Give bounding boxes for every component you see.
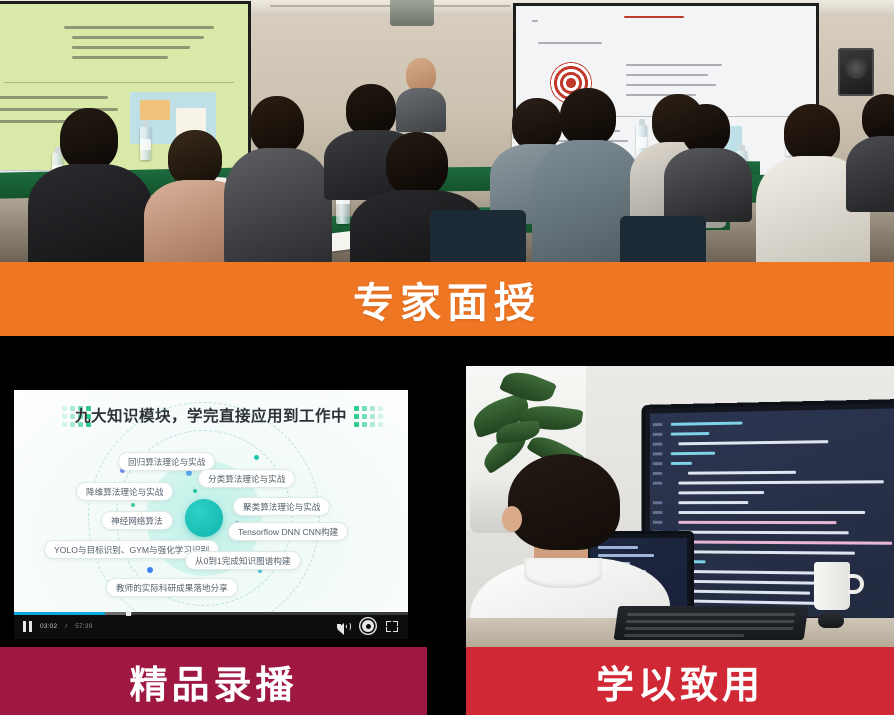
knowledge-node[interactable]: 教师的实际科研成果落地分享 — [106, 578, 238, 597]
banner-recorded-courses-text: 精品录播 — [129, 654, 297, 709]
promo-page: 专家面授 九大知识模块，学完直接应用到工作中 回归算法理论与实战 分类算法理论与… — [0, 0, 894, 715]
volume-icon[interactable] — [337, 620, 350, 632]
progress-played — [14, 612, 105, 615]
keyboard — [614, 606, 809, 640]
knowledge-node[interactable]: Tensorflow DNN CNN构建 — [228, 522, 348, 541]
student — [668, 104, 746, 214]
pause-icon[interactable] — [23, 621, 32, 632]
student — [852, 94, 894, 206]
banner-apply-knowledge-text: 学以致用 — [596, 654, 764, 709]
video-control-bar[interactable]: 03:02 / 57:39 — [14, 612, 408, 639]
accent-dot — [254, 455, 259, 460]
knowledge-node[interactable]: 神经网络算法 — [101, 511, 173, 530]
knowledge-node[interactable]: 降维算法理论与实战 — [76, 482, 173, 501]
banner-apply-knowledge: 学以致用 — [466, 647, 894, 715]
student — [34, 108, 144, 262]
banner-expert-teaching-text: 专家面授 — [353, 269, 541, 329]
coffee-cup — [814, 562, 850, 610]
chair — [430, 210, 526, 262]
banner-expert-teaching: 专家面授 — [0, 262, 894, 336]
accent-dot — [147, 567, 153, 573]
accent-dot — [131, 503, 135, 507]
accent-dot — [193, 489, 197, 493]
chair — [620, 216, 706, 262]
ear — [502, 506, 522, 532]
knowledge-node[interactable]: 从0到1完成知识图谱构建 — [185, 551, 301, 570]
hair — [508, 454, 620, 550]
banner-recorded-courses: 精品录播 — [0, 647, 427, 715]
player-right-controls — [337, 620, 398, 632]
wall-speaker — [838, 48, 874, 96]
classroom-photo — [0, 0, 894, 262]
duration-label: 57:39 — [75, 623, 92, 630]
collar — [524, 558, 602, 588]
student — [228, 96, 324, 262]
ac-unit — [390, 0, 434, 26]
current-time-label: 03:02 — [40, 623, 57, 630]
knowledge-node[interactable]: 聚类算法理论与实战 — [233, 497, 330, 516]
progress-bar-track[interactable] — [14, 612, 408, 615]
knowledge-node[interactable]: 回归算法理论与实战 — [118, 452, 215, 471]
time-separator: / — [65, 623, 67, 630]
settings-gear-icon[interactable] — [362, 620, 374, 632]
mouse — [818, 612, 844, 628]
office-photo — [466, 366, 894, 647]
knowledge-node[interactable]: 分类算法理论与实战 — [198, 469, 295, 488]
fullscreen-icon[interactable] — [386, 621, 398, 632]
diagram-core-node — [185, 499, 223, 537]
dot-grid-right-icon — [354, 406, 383, 427]
player-left-controls: 03:02 / 57:39 — [23, 621, 93, 632]
progress-handle[interactable] — [126, 611, 131, 616]
